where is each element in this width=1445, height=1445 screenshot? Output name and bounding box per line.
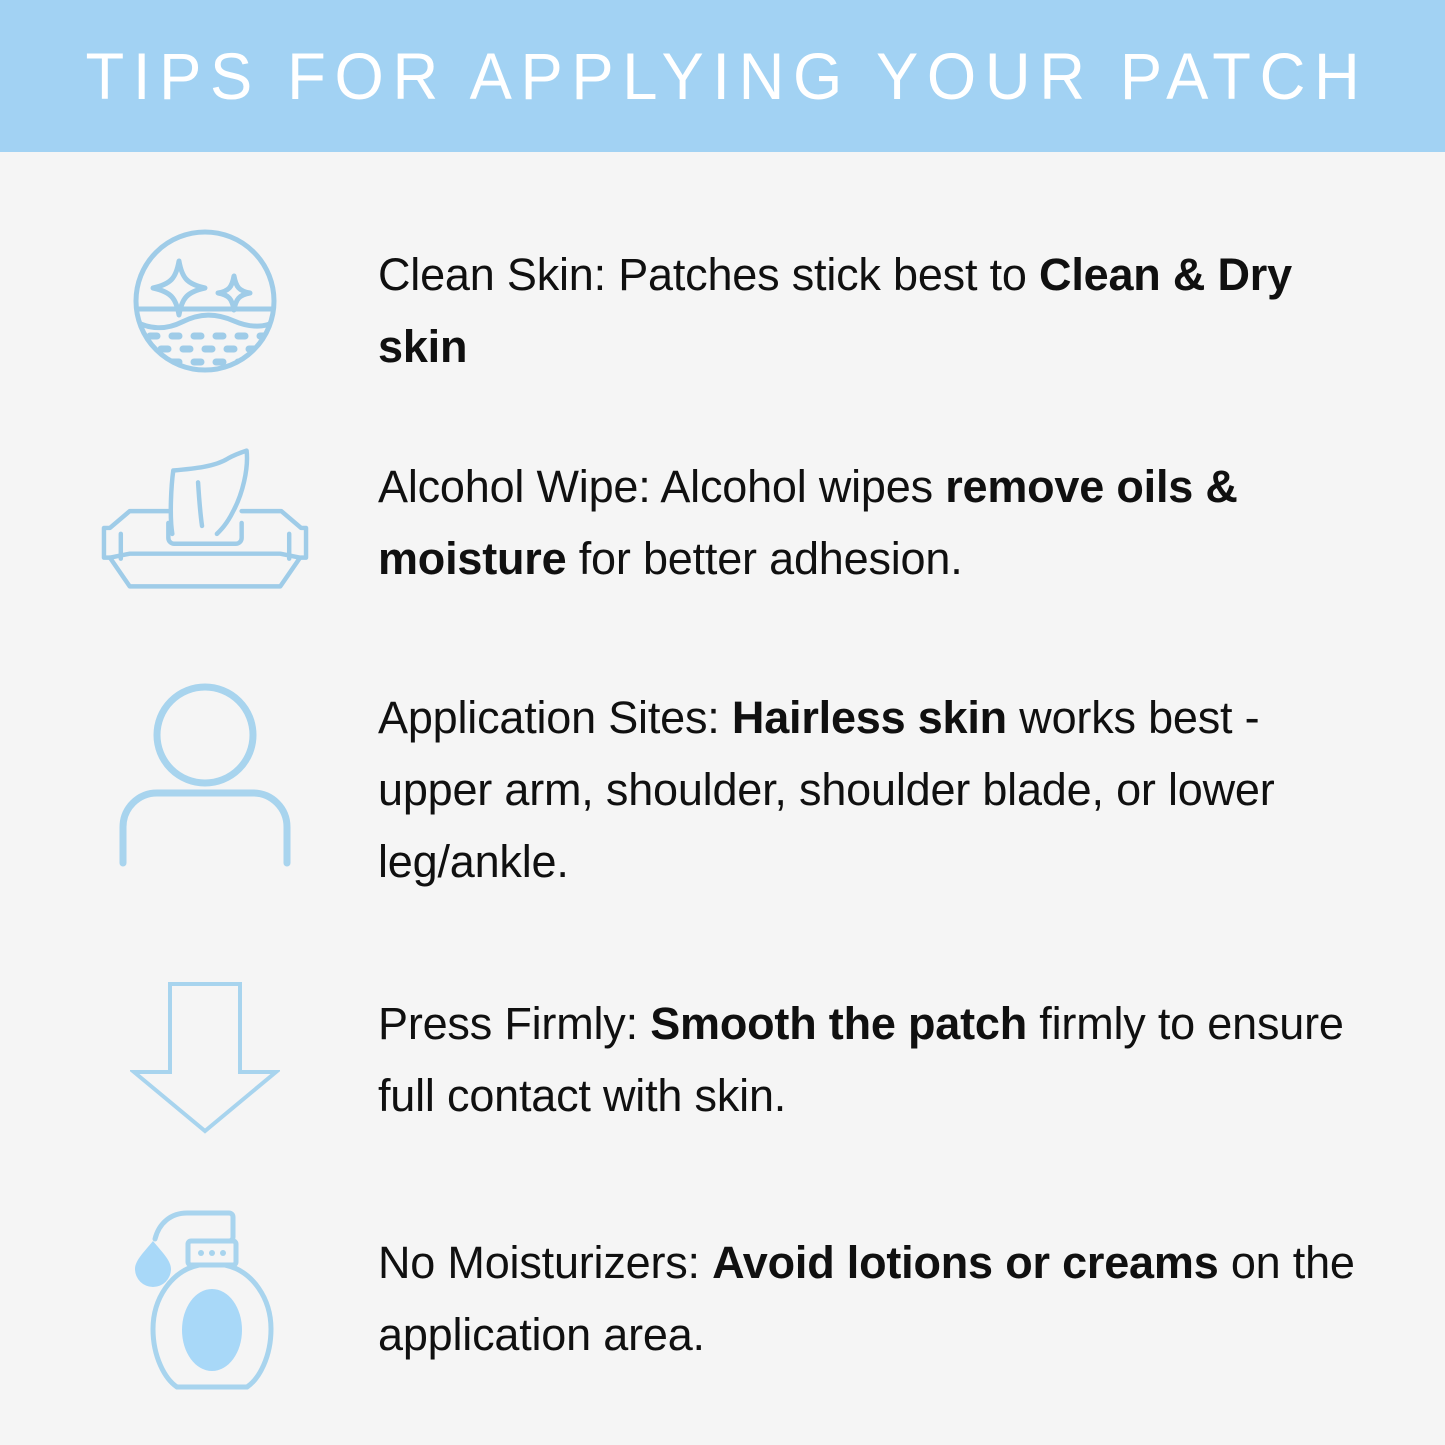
- tip-lead-text: No Moisturizers:: [378, 1237, 712, 1288]
- infographic-page: TIPS FOR APPLYING YOUR PATCH: [0, 0, 1445, 1445]
- lotion-bottle-icon: [100, 1205, 310, 1395]
- tip-emphasis-text: Smooth the patch: [650, 998, 1027, 1049]
- down-arrow-icon: [100, 980, 310, 1135]
- tip-text-press-firmly: Press Firmly: Smooth the patch firmly to…: [378, 988, 1378, 1132]
- person-icon: [100, 677, 310, 867]
- tip-text-no-moisturizers: No Moisturizers: Avoid lotions or creams…: [378, 1227, 1378, 1371]
- tip-lead-text: Press Firmly:: [378, 998, 650, 1049]
- tip-lead-text: Clean Skin: Patches stick best to: [378, 249, 1039, 300]
- clean-skin-icon: [100, 216, 310, 386]
- header-band: TIPS FOR APPLYING YOUR PATCH: [0, 0, 1445, 152]
- tip-lead-text: Alcohol Wipe: Alcohol wipes: [378, 461, 945, 512]
- wipes-pack-icon: [100, 446, 310, 596]
- tip-emphasis-text: Hairless skin: [732, 692, 1007, 743]
- tip-tail-text: for better adhesion.: [566, 533, 962, 584]
- page-title: TIPS FOR APPLYING YOUR PATCH: [77, 43, 1369, 109]
- tip-text-alcohol-wipe: Alcohol Wipe: Alcohol wipes remove oils …: [378, 451, 1378, 595]
- tip-text-clean-skin: Clean Skin: Patches stick best to Clean …: [378, 239, 1378, 383]
- tip-text-application-sites: Application Sites: Hairless skin works b…: [378, 682, 1378, 898]
- tip-emphasis-text: Avoid lotions or creams: [712, 1237, 1218, 1288]
- tip-lead-text: Application Sites:: [378, 692, 732, 743]
